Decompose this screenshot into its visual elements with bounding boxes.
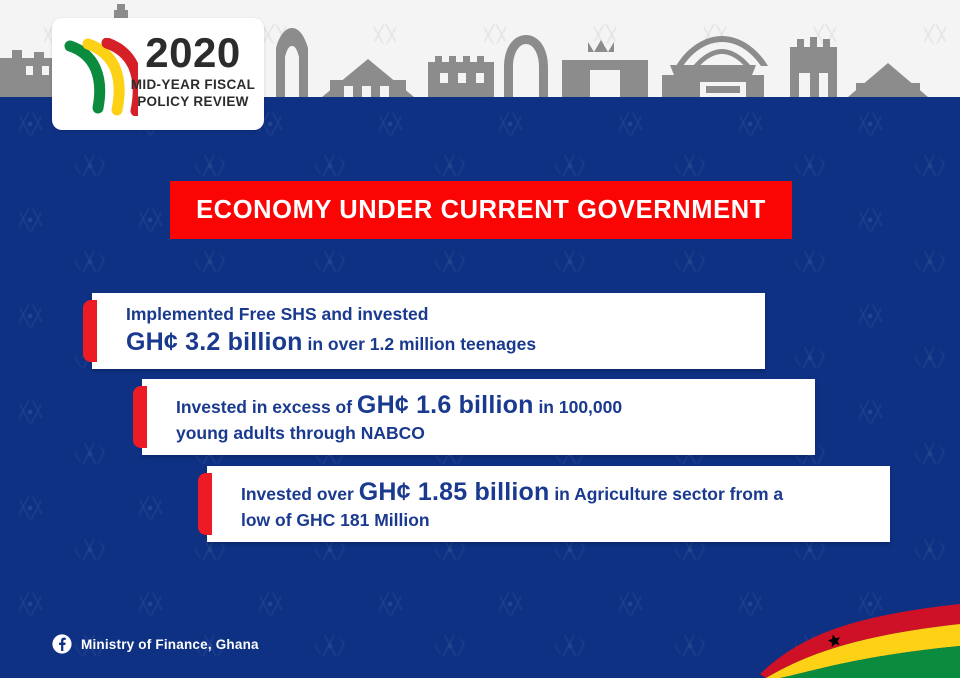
fact-card-line: Implemented Free SHS and invested xyxy=(126,303,536,326)
section-title-banner: ECONOMY UNDER CURRENT GOVERNMENT xyxy=(170,181,792,239)
facebook-icon[interactable] xyxy=(52,634,72,654)
fact-amount: GH¢ 1.6 billion xyxy=(357,391,534,419)
fact-card-body: Implemented Free SHS and investedGH¢ 3.2… xyxy=(92,303,554,360)
fact-text: in over 1.2 million teenages xyxy=(303,334,536,354)
fact-card-line: Invested in excess of GH¢ 1.6 billion in… xyxy=(176,389,622,423)
footer-label: Ministry of Finance, Ghana xyxy=(81,637,259,652)
logo-year: 2020 xyxy=(126,30,260,76)
fact-card: Invested in excess of GH¢ 1.6 billion in… xyxy=(142,379,815,455)
fact-card-line: low of GHC 181 Million xyxy=(241,509,783,532)
fact-card-line: Invested over GH¢ 1.85 billion in Agricu… xyxy=(241,476,783,510)
red-accent-tab-icon xyxy=(83,300,97,362)
page-title: ECONOMY UNDER CURRENT GOVERNMENT xyxy=(196,196,766,225)
logo-text-block: 2020 MID-YEAR FISCAL POLICY REVIEW xyxy=(126,30,260,110)
fact-amount: GH¢ 1.85 billion xyxy=(359,478,550,506)
logo-subtitle-line-2: POLICY REVIEW xyxy=(126,93,260,110)
logo-subtitle-line-1: MID-YEAR FISCAL xyxy=(126,76,260,93)
fact-text: Invested over xyxy=(241,484,359,504)
fact-text: low of GHC 181 Million xyxy=(241,510,430,530)
fact-text: Implemented Free SHS and invested xyxy=(126,304,428,324)
fact-card: Invested over GH¢ 1.85 billion in Agricu… xyxy=(207,466,890,542)
fact-text: in 100,000 xyxy=(534,397,623,417)
footer-credit[interactable]: Ministry of Finance, Ghana xyxy=(52,634,259,654)
mid-year-fiscal-policy-review-logo: 2020 MID-YEAR FISCAL POLICY REVIEW xyxy=(52,18,264,130)
fact-card-body: Invested in excess of GH¢ 1.6 billion in… xyxy=(142,389,640,446)
fact-card-line: GH¢ 3.2 billion in over 1.2 million teen… xyxy=(126,326,536,360)
ghana-flag-ribbon-icon xyxy=(760,588,960,678)
fact-text: in Agriculture sector from a xyxy=(549,484,783,504)
fact-card: Implemented Free SHS and investedGH¢ 3.2… xyxy=(92,293,765,369)
fact-card-line: young adults through NABCO xyxy=(176,422,622,445)
fact-text: Invested in excess of xyxy=(176,397,357,417)
red-accent-tab-icon xyxy=(133,386,147,448)
red-accent-tab-icon xyxy=(198,473,212,535)
fact-card-body: Invested over GH¢ 1.85 billion in Agricu… xyxy=(207,476,801,533)
fact-amount: GH¢ 3.2 billion xyxy=(126,328,303,356)
infographic-poster: 2020 MID-YEAR FISCAL POLICY REVIEW ECONO… xyxy=(0,0,960,678)
fact-text: young adults through NABCO xyxy=(176,423,425,443)
